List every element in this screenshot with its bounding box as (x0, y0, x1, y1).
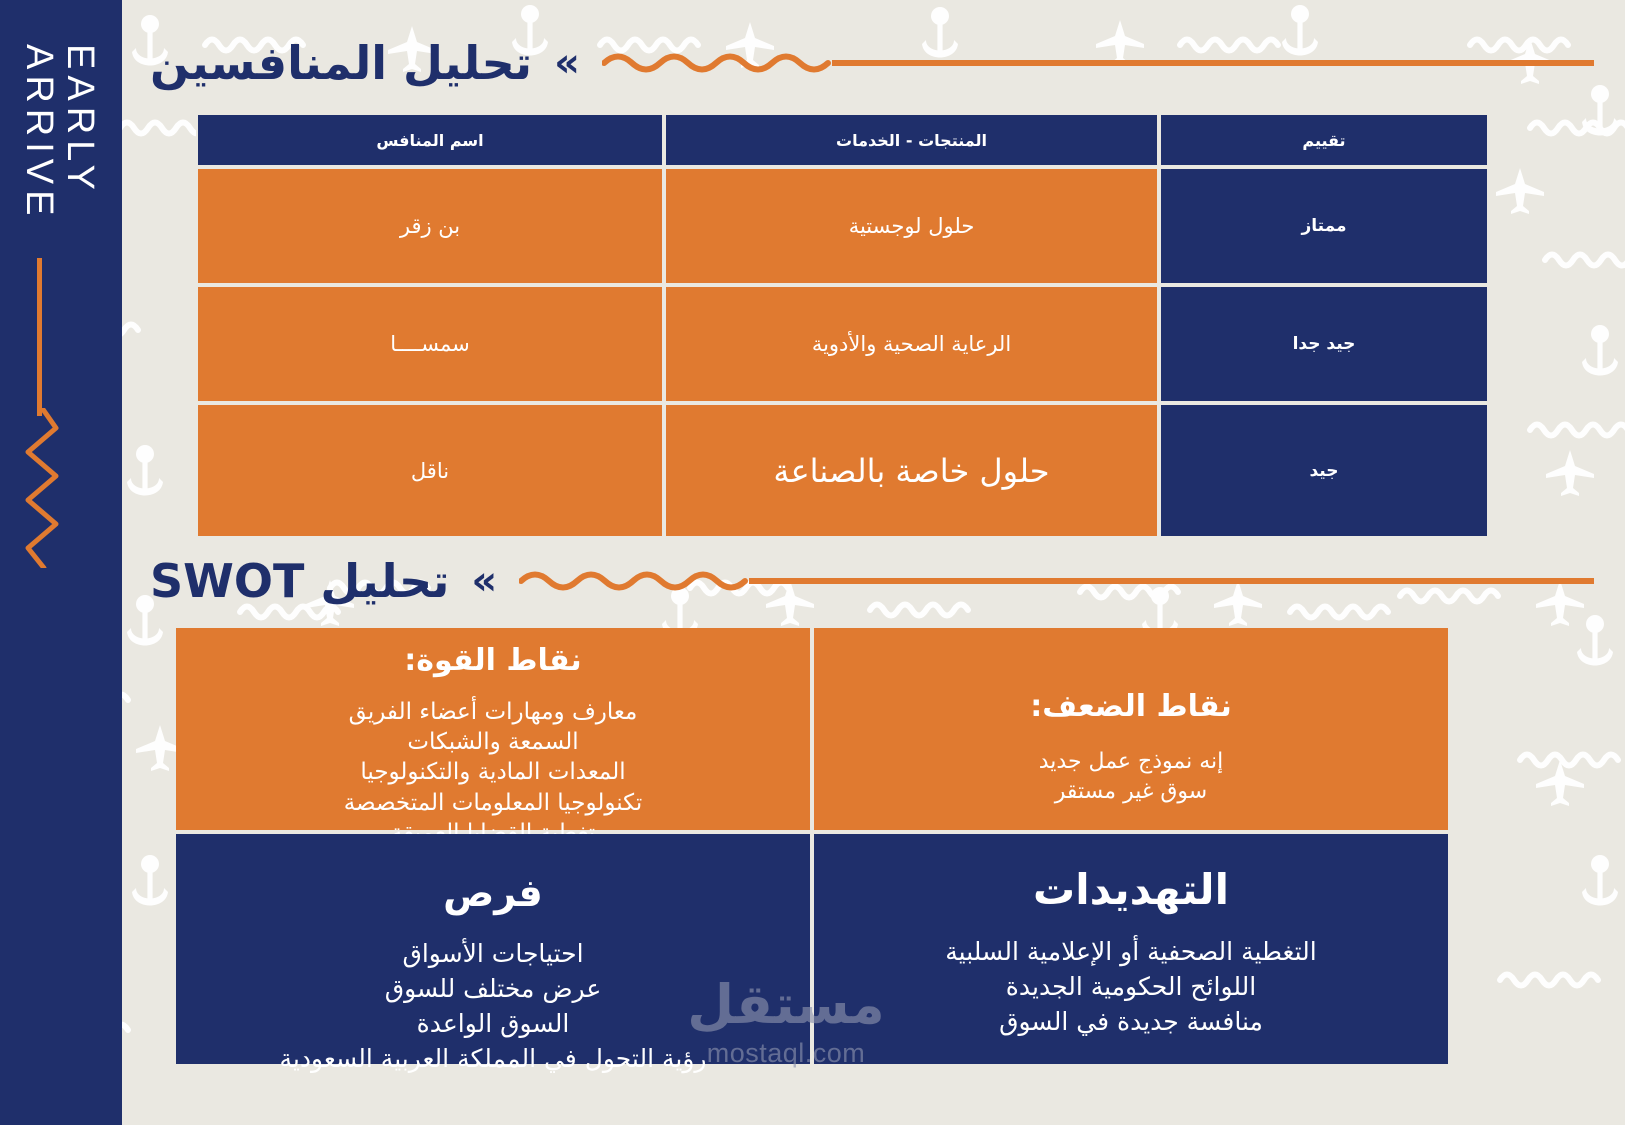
column-header-rating: تقييم (1159, 113, 1489, 167)
swot-quadrant-strengths: نقاط القوة: معارف ومهارات أعضاء الفريق ا… (176, 628, 810, 830)
cell-service: الرعاية الصحية والأدوية (664, 285, 1159, 403)
cell-rating: ممتاز (1159, 167, 1489, 285)
cell-service: حلول لوجستية (664, 167, 1159, 285)
header-rule (832, 60, 1594, 66)
list-item: إنه نموذج عمل جديد (840, 747, 1422, 777)
strengths-list: معارف ومهارات أعضاء الفريق السمعة والشبك… (202, 697, 784, 849)
table-row: جيد حلول خاصة بالصناعة ناقل (196, 403, 1489, 538)
cell-rating: جيد جدا (1159, 285, 1489, 403)
list-item: معارف ومهارات أعضاء الفريق (202, 697, 784, 727)
list-item: تكنولوجيا المعلومات المتخصصة (202, 788, 784, 818)
brand-accent-line (37, 258, 42, 416)
brand-zigzag-icon (22, 408, 62, 568)
cell-name: سمســــا (196, 285, 664, 403)
threats-heading: التهديدات (840, 866, 1422, 914)
header-wave-icon (602, 48, 832, 78)
table-row: ممتاز حلول لوجستية بن زقر (196, 167, 1489, 285)
list-item: المعدات المادية والتكنولوجيا (202, 757, 784, 787)
list-item: التغطية الصحفية أو الإعلامية السلبية (840, 934, 1422, 969)
weaknesses-heading: نقاط الضعف: (840, 690, 1422, 725)
cell-service: حلول خاصة بالصناعة (664, 403, 1159, 538)
cell-rating: جيد (1159, 403, 1489, 538)
swot-quadrant-opportunities: فرص احتياجات الأسواق عرض مختلف للسوق الس… (176, 834, 810, 1064)
table-header-row: تقييم المنتجات - الخدمات اسم المنافس (196, 113, 1489, 167)
swot-title: تحليل SWOT (150, 558, 449, 604)
cell-name: ناقل (196, 403, 664, 538)
header-rule (749, 578, 1594, 584)
list-item: منافسة جديدة في السوق (840, 1004, 1422, 1039)
list-item: سوق غير مستقر (840, 777, 1422, 807)
list-item: احتياجات الأسواق (202, 936, 784, 971)
cell-name: بن زقر (196, 167, 664, 285)
swot-quadrant-weaknesses: نقاط الضعف: إنه نموذج عمل جديد سوق غير م… (814, 628, 1448, 830)
column-header-name: اسم المنافس (196, 113, 664, 167)
swot-section-header: تحليل SWOT » (122, 548, 1594, 614)
competitors-section-header: تحليل المنافسين » (122, 30, 1594, 96)
brand-name: EARLY ARRIVE (18, 44, 100, 344)
opportunities-heading: فرص (202, 872, 784, 916)
opportunities-list: احتياجات الأسواق عرض مختلف للسوق السوق ا… (202, 936, 784, 1076)
table-row: جيد جدا الرعاية الصحية والأدوية سمســــا (196, 285, 1489, 403)
competitors-title: تحليل المنافسين (150, 40, 532, 86)
list-item: اللوائح الحكومية الجديدة (840, 969, 1422, 1004)
chevron-double-left-icon: » (471, 561, 497, 601)
list-item: السوق الواعدة (202, 1006, 784, 1041)
competitor-analysis-table: تقييم المنتجات - الخدمات اسم المنافس ممت… (196, 113, 1489, 538)
swot-quadrant-threats: التهديدات التغطية الصحفية أو الإعلامية ا… (814, 834, 1448, 1064)
threats-list: التغطية الصحفية أو الإعلامية السلبية الل… (840, 934, 1422, 1039)
brand-sidebar: EARLY ARRIVE (0, 0, 122, 1125)
chevron-double-left-icon: » (554, 43, 580, 83)
list-item: السمعة والشبكات (202, 727, 784, 757)
column-header-services: المنتجات - الخدمات (664, 113, 1159, 167)
weaknesses-list: إنه نموذج عمل جديد سوق غير مستقر (840, 747, 1422, 808)
header-wave-icon (519, 566, 749, 596)
list-item: رؤية التحول في المملكة العربية السعودية (202, 1041, 784, 1076)
swot-matrix: نقاط الضعف: إنه نموذج عمل جديد سوق غير م… (176, 628, 1448, 1060)
strengths-heading: نقاط القوة: (202, 644, 784, 679)
list-item: عرض مختلف للسوق (202, 971, 784, 1006)
